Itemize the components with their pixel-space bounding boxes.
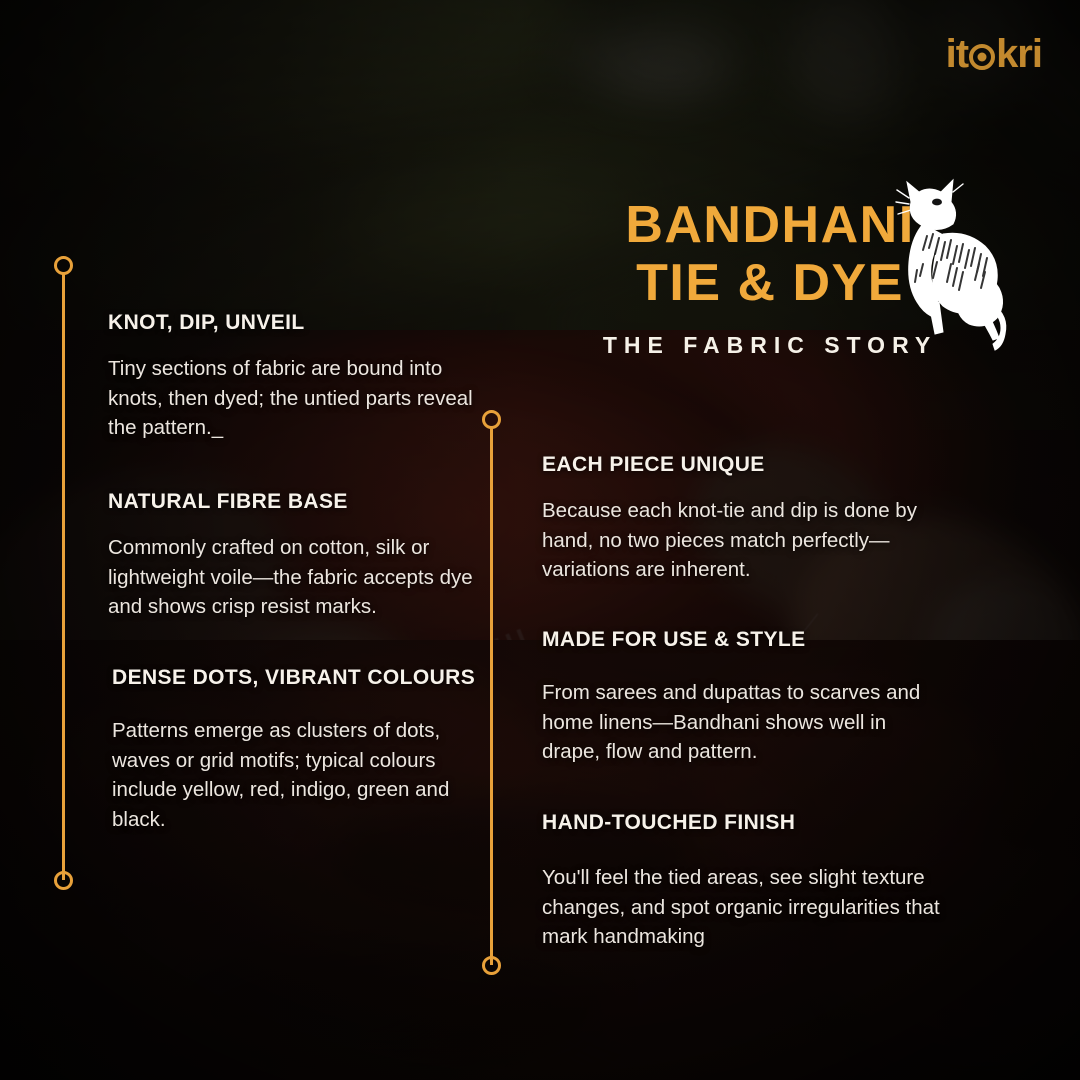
itokri-logo[interactable]: it kri <box>946 34 1042 74</box>
info-block-natural-fibre-base: NATURAL FIBRE BASE Commonly crafted on c… <box>108 489 480 622</box>
cat-illustration-icon <box>893 176 1015 356</box>
block-heading: NATURAL FIBRE BASE <box>108 489 480 516</box>
poster-content: it kri BANDHANI TIE & DYE THE FABRIC STO… <box>0 0 1080 1080</box>
info-block-each-piece-unique: EACH PIECE UNIQUE Because each knot-tie … <box>542 452 942 585</box>
block-body: Tiny sections of fabric are bound into k… <box>108 354 480 443</box>
infographic-poster: it kri BANDHANI TIE & DYE THE FABRIC STO… <box>0 0 1080 1080</box>
block-body: From sarees and dupattas to scarves and … <box>542 678 942 767</box>
block-body: You'll feel the tied areas, see slight t… <box>542 863 942 952</box>
timeline-node-right-bottom <box>482 956 501 975</box>
info-block-made-for-use-and-style: MADE FOR USE & STYLE From sarees and dup… <box>542 627 942 767</box>
block-heading: MADE FOR USE & STYLE <box>542 627 942 654</box>
timeline-node-left-bottom <box>54 871 73 890</box>
block-body: Patterns emerge as clusters of dots, wav… <box>112 716 484 835</box>
block-body: Commonly crafted on cotton, silk or ligh… <box>108 533 480 622</box>
block-heading: KNOT, DIP, UNVEIL <box>108 310 480 337</box>
block-heading: DENSE DOTS, VIBRANT COLOURS <box>112 665 484 692</box>
logo-o-icon <box>969 44 995 70</box>
block-heading: HAND-TOUCHED FINISH <box>542 810 942 837</box>
block-body: Because each knot-tie and dip is done by… <box>542 496 942 585</box>
logo-text-before: it <box>946 34 968 74</box>
logo-text-after: kri <box>996 34 1042 74</box>
block-heading: EACH PIECE UNIQUE <box>542 452 942 479</box>
timeline-rail-right <box>490 428 493 965</box>
timeline-node-right-top <box>482 410 501 429</box>
timeline-rail-left <box>62 274 65 880</box>
info-block-knot-dip-unveil: KNOT, DIP, UNVEIL Tiny sections of fabri… <box>108 310 480 443</box>
info-block-dense-dots-vibrant-colours: DENSE DOTS, VIBRANT COLOURS Patterns eme… <box>112 665 484 835</box>
info-block-hand-touched-finish: HAND-TOUCHED FINISH You'll feel the tied… <box>542 810 942 952</box>
timeline-node-left-top <box>54 256 73 275</box>
